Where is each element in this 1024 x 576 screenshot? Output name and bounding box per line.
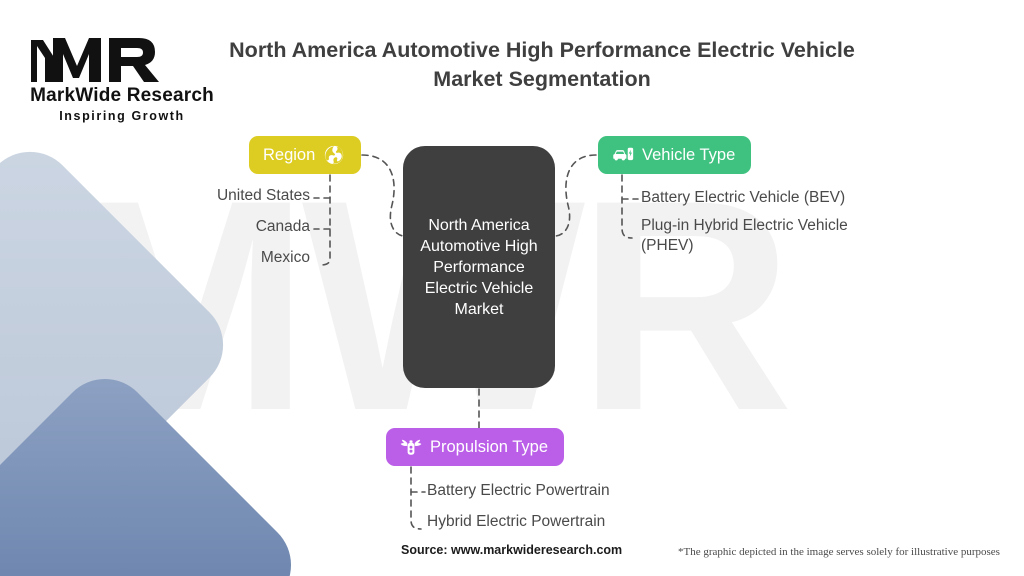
- list-item[interactable]: Hybrid Electric Powertrain: [427, 512, 707, 532]
- segment-label-region: Region: [263, 146, 315, 165]
- central-market-label: North America Automotive High Performanc…: [415, 215, 543, 320]
- segment-badge-vehicle-type[interactable]: Vehicle Type: [598, 136, 751, 174]
- connector-region-to-center: [362, 155, 404, 236]
- segment-badge-propulsion-type[interactable]: Propulsion Type: [386, 428, 564, 466]
- connector-propulsion-spine: [411, 467, 421, 529]
- connector-vehicle-to-center: [555, 155, 596, 236]
- central-market-node: North America Automotive High Performanc…: [403, 146, 555, 388]
- connector-vehicle-spine: [622, 175, 632, 238]
- globe-icon: [323, 144, 345, 166]
- segment-items-propulsion-type: Battery Electric Powertrain Hybrid Elect…: [427, 481, 707, 543]
- connector-region-spine: [320, 175, 330, 265]
- list-item[interactable]: Battery Electric Powertrain: [427, 481, 707, 501]
- segment-label-propulsion-type: Propulsion Type: [430, 438, 548, 457]
- list-item[interactable]: Battery Electric Vehicle (BEV): [641, 188, 886, 208]
- electric-car-charging-icon: [612, 144, 634, 166]
- infographic-canvas: MWR MarkWide Research Inspiring Growth N…: [0, 0, 1024, 576]
- segment-badge-region[interactable]: Region: [249, 136, 361, 174]
- eco-battery-icon: [400, 436, 422, 458]
- list-item[interactable]: Mexico: [150, 248, 310, 268]
- list-item[interactable]: Plug-in Hybrid Electric Vehicle (PHEV): [641, 216, 886, 256]
- segment-items-vehicle-type: Battery Electric Vehicle (BEV) Plug-in H…: [641, 188, 886, 264]
- segment-label-vehicle-type: Vehicle Type: [642, 146, 735, 165]
- list-item[interactable]: United States: [150, 186, 310, 206]
- list-item[interactable]: Canada: [150, 217, 310, 237]
- segment-items-region: United States Canada Mexico: [150, 186, 310, 279]
